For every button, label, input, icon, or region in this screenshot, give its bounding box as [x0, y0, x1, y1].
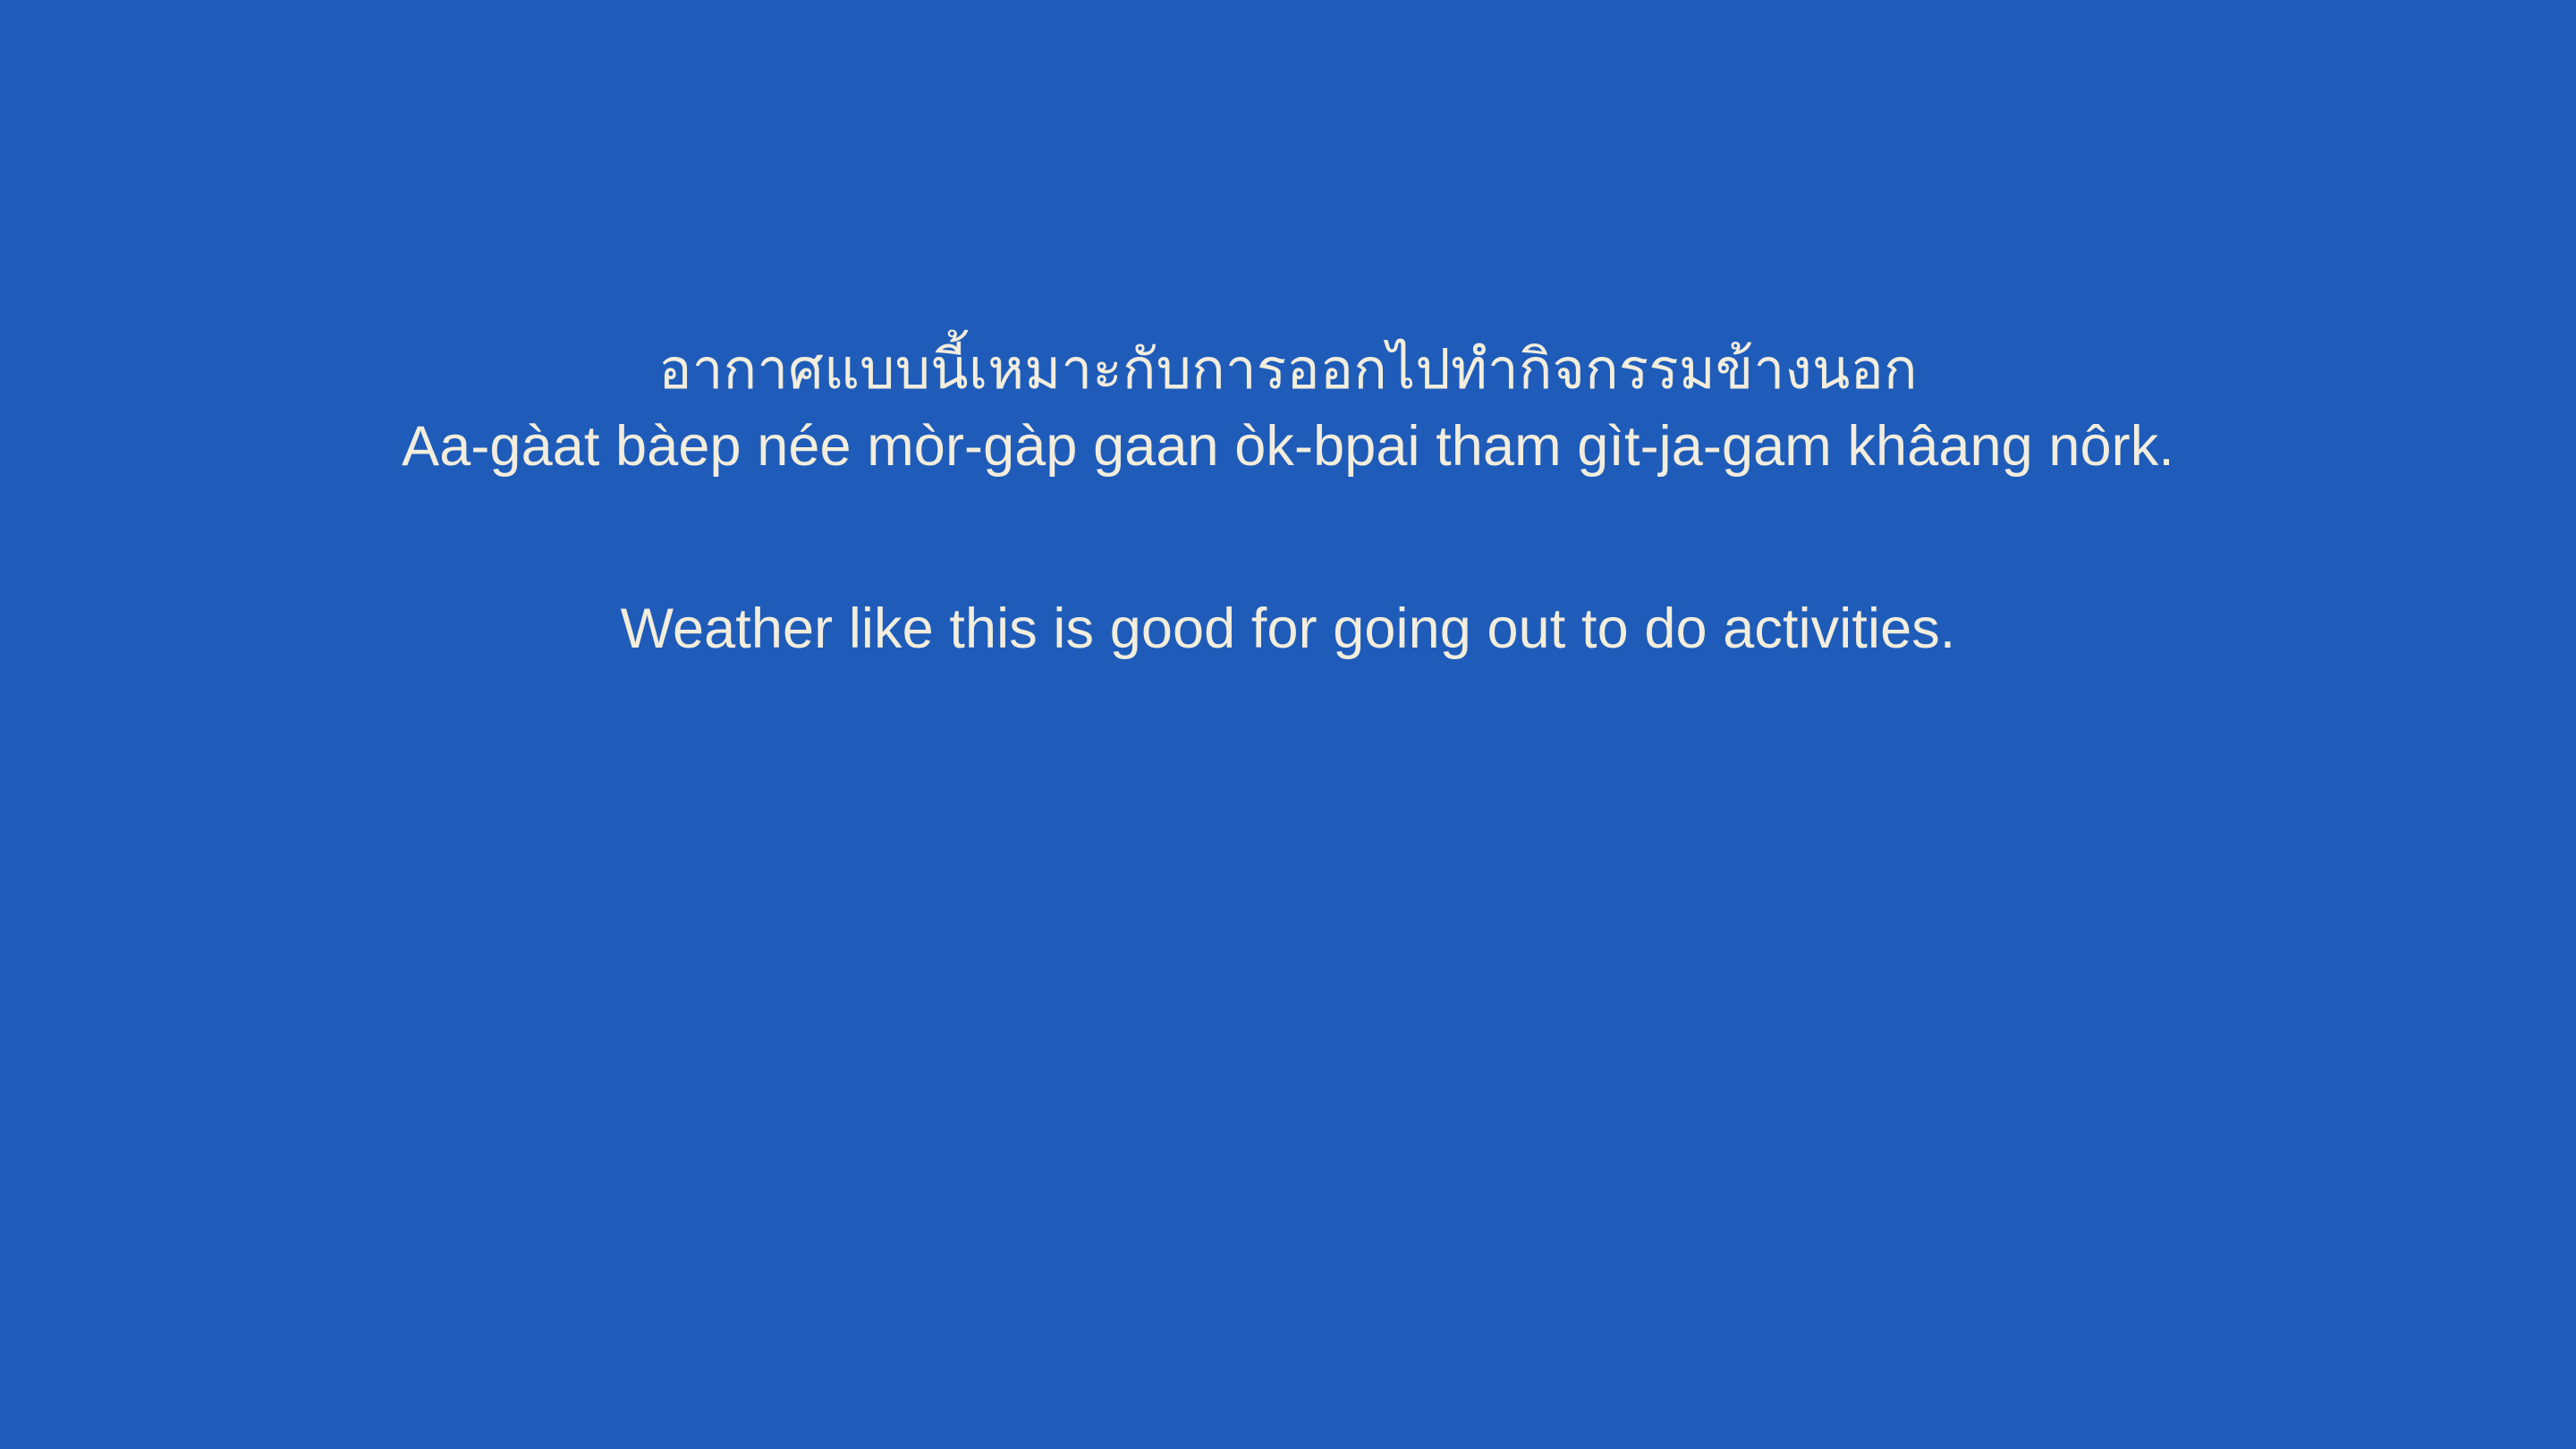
romanization-line: Aa-gàat bàep née mòr-gàp gaan òk-bpai th… [0, 408, 2576, 485]
subtitle-text-block: อากาศแบบนี้เหมาะกับการออกไปทำกิจกรรมข้าง… [0, 0, 2576, 667]
english-translation-line: Weather like this is good for going out … [0, 590, 2576, 667]
thai-source-line: อากาศแบบนี้เหมาะกับการออกไปทำกิจกรรมข้าง… [0, 333, 2576, 406]
subtitle-slide: อากาศแบบนี้เหมาะกับการออกไปทำกิจกรรมข้าง… [0, 0, 2576, 1449]
